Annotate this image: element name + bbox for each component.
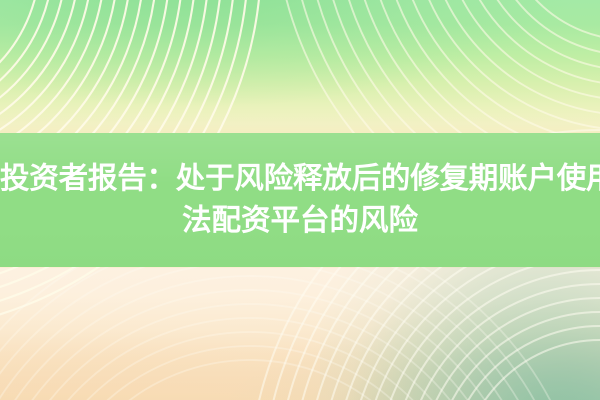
banner-canvas: 投资者报告：处于风险释放后的修复期账户使用合 法配资平台的风险	[0, 0, 600, 400]
title-band: 投资者报告：处于风险释放后的修复期账户使用合 法配资平台的风险	[0, 133, 600, 267]
banner-title-line-1: 投资者报告：处于风险释放后的修复期账户使用合	[0, 158, 600, 200]
banner-title-line-2: 法配资平台的风险	[0, 200, 600, 242]
background-green-haze	[0, 0, 600, 136]
